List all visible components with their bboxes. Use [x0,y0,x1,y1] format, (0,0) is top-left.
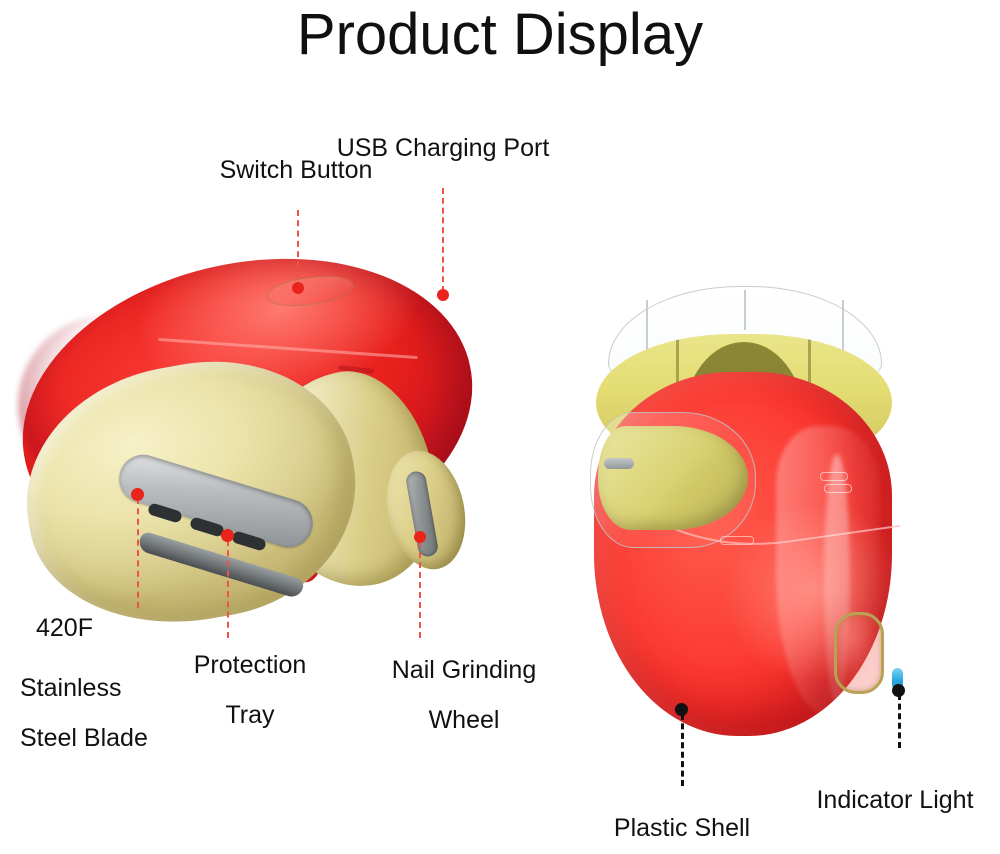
shell-slot [720,536,754,545]
power-button[interactable] [834,612,884,694]
cap-rib [646,300,648,354]
anchor-dot-grinding-wheel [414,531,426,543]
callout-label-wheel-line1: Nail Grinding [349,650,579,690]
product-image-right-device [588,286,898,736]
anchor-dot-usb-port [437,289,449,301]
product-display-page: Product Display [0,0,1000,854]
leader-line-blade [137,498,139,608]
anchor-dot-protection-tray [221,529,234,542]
page-title: Product Display [0,2,1000,68]
callout-label-usb-charging-port: USB Charging Port [243,128,643,168]
anchor-dot-plastic-shell [675,703,688,716]
leader-line-indicator-light [898,694,901,748]
callout-label-blade-line1: 420F [36,608,236,648]
anchor-dot-blade [131,488,144,501]
anchor-dot-indicator-light [892,684,905,697]
callout-label-indicator-light: Indicator Light [790,780,1000,820]
leader-line-grinding-wheel [419,542,421,638]
leader-line-plastic-shell [681,714,684,786]
cap-rib [842,300,844,354]
leader-line-switch-button [297,210,299,288]
product-image-left-device [8,255,488,615]
cap-rib [744,290,746,330]
leader-line-usb-port [442,188,444,292]
callout-label-plastic-shell: Plastic Shell [562,808,802,848]
callout-label-tray-line1: Protection [150,645,350,685]
callout-label-tray-line2: Tray [150,695,350,735]
callout-label-wheel-line2: Wheel [349,700,579,740]
clear-cover-panel [590,412,756,548]
anchor-dot-switch-button [292,282,304,294]
